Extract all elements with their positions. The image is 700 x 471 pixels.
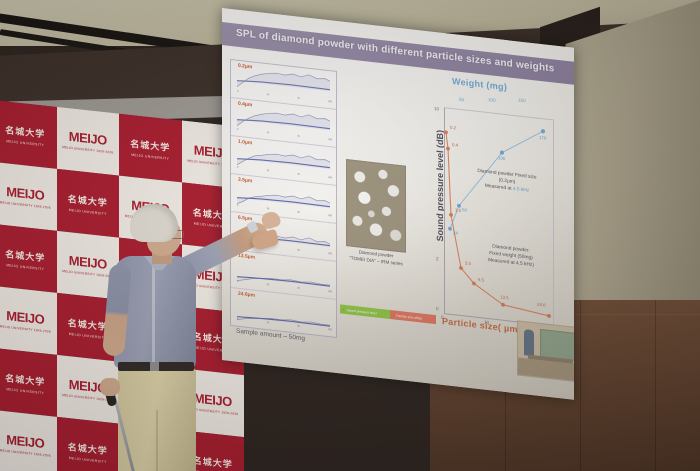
tick: 4k — [297, 325, 300, 330]
tick: 2k — [267, 131, 270, 136]
meijo-logo-text: MEIJO — [69, 129, 107, 148]
spl-scatter-chart: Weight (mg) 50 100 150 Sound pressure le… — [422, 83, 557, 353]
top-tick-50: 50 — [459, 97, 464, 103]
point-label-6-5: 6.5 — [478, 277, 484, 283]
backdrop-meijo-logo: MEIJO MEIJO UNIVERSITY 1926-2026 — [0, 183, 51, 209]
backdrop-cell: MEIJO MEIJO UNIVERSITY 1926-2026 — [0, 410, 57, 471]
top-tick-150: 150 — [518, 97, 526, 103]
chart-plot-area: 0.2 0.4 1.0 3.5 6.5 13.5 24.6 24 50 100 … — [444, 107, 554, 326]
presenter-shirt-placket — [152, 264, 155, 364]
point-label-170mg: 170 — [539, 135, 546, 141]
presentation-photo-scene: 名城大学 MEIJO UNIVERSITY MEIJO MEIJO UNIVER… — [0, 0, 700, 471]
kanji-subtext: MEIJO UNIVERSITY — [5, 264, 45, 272]
tick: 4k — [297, 97, 300, 102]
tick: 4k — [297, 173, 300, 178]
tick: 4k — [297, 211, 300, 216]
backdrop-cell: 名城大学 MEIJO UNIVERSITY — [0, 100, 57, 169]
backdrop-kanji-logo: 名城大学 MEIJO UNIVERSITY — [5, 121, 45, 148]
tick: 20k — [328, 328, 332, 333]
backdrop-meijo-logo: MEIJO MEIJO UNIVERSITY 1926-2026 — [0, 307, 51, 333]
backdrop-cell: 名城大学 MEIJO UNIVERSITY — [0, 224, 57, 293]
point-label-50mg: 50 — [462, 207, 467, 213]
backdrop-kanji-logo: 名城大学 MEIJO UNIVERSITY — [130, 135, 170, 162]
backdrop-cell: MEIJO MEIJO UNIVERSITY 1926-2026 — [0, 286, 57, 355]
tick: 0 — [237, 128, 238, 133]
point-label-24-6: 24.6 — [537, 302, 546, 308]
legend-chip-salmon-label: Particle size effect — [396, 313, 422, 320]
blue-ann-line3-highlight: 4.5 kHz — [513, 187, 529, 194]
backdrop-cell: 名城大学 MEIJO UNIVERSITY — [0, 348, 57, 417]
point-label-0-4: 0.4 — [452, 142, 458, 148]
sem-micrograph-image — [346, 159, 406, 253]
legend-chip-salmon-key: ↓ — [393, 313, 395, 317]
point-label-24mg: 24 — [453, 230, 458, 236]
y-tick-2: 2 — [436, 256, 439, 261]
point-label-0-2: 0.2 — [450, 125, 456, 131]
kanji-subtext: MEIJO UNIVERSITY — [5, 140, 45, 148]
kanji-text: 名城大学 — [5, 125, 45, 139]
presenter-belt-buckle — [150, 362, 159, 371]
backdrop-kanji-logo: 名城大学 MEIJO UNIVERSITY — [5, 245, 45, 272]
legend-chip-green: ↑ Sound pressure level — [340, 304, 390, 319]
tick: 20k — [328, 138, 332, 143]
presenter-trouser-seam — [156, 410, 158, 471]
kanji-text: 名城大学 — [130, 139, 170, 153]
backdrop-kanji-logo: 名城大学 MEIJO UNIVERSITY — [5, 369, 45, 396]
point-label-13-5: 13.5 — [500, 294, 509, 300]
backdrop-meijo-logo: MEIJO MEIJO UNIVERSITY 1926-2026 — [0, 431, 51, 457]
legend-chip-green-key: ↑ — [343, 307, 345, 311]
y-tick-10: 10 — [434, 106, 439, 112]
tick: 2k — [267, 93, 270, 98]
picture-in-picture-inset — [517, 320, 574, 385]
backdrop-cell: MEIJO MEIJO UNIVERSITY 1926-2026 — [0, 162, 57, 231]
presenter-left-hand — [100, 378, 120, 396]
presenter — [92, 160, 282, 471]
meijo-logo-text: MEIJO — [6, 184, 44, 203]
top-tick-100: 100 — [488, 97, 496, 103]
tick: 20k — [328, 176, 332, 181]
meijo-logo-text: MEIJO — [6, 308, 44, 327]
chart-top-axis-title: Weight (mg) — [452, 76, 507, 92]
kanji-subtext: MEIJO UNIVERSITY — [5, 388, 45, 396]
presenter-hair — [130, 204, 178, 242]
legend-chip-green-label: Sound pressure level — [347, 308, 377, 315]
tick: 4k — [297, 135, 300, 140]
tick: 20k — [328, 100, 332, 105]
tick: 20k — [328, 290, 332, 295]
pip-person-left — [524, 329, 534, 356]
point-label-100mg: 100 — [498, 155, 505, 161]
kanji-text: 名城大学 — [5, 373, 45, 387]
meijo-logo-text: MEIJO — [6, 432, 44, 451]
y-tick-0: 0 — [436, 306, 439, 311]
tick: 4k — [297, 249, 300, 254]
tick: 0 — [237, 90, 238, 95]
point-label-1-0: 1.0 — [455, 207, 461, 213]
chart-series-svg — [445, 108, 553, 325]
tick: 20k — [328, 252, 332, 257]
tick: 4k — [297, 287, 300, 292]
backdrop-meijo-logo: MEIJO MEIJO UNIVERSITY 1926-2026 — [62, 128, 113, 154]
tick: 20k — [328, 214, 332, 219]
kanji-text: 名城大学 — [5, 249, 45, 263]
